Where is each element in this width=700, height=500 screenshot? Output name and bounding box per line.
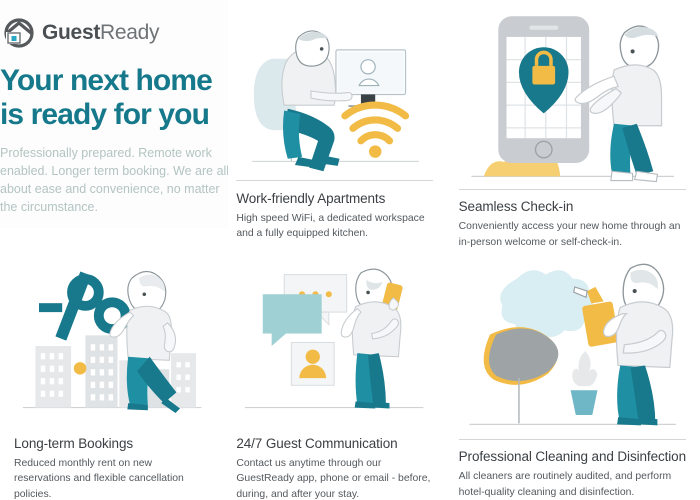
percent-discount-city-illustration [14,258,210,426]
phone-map-pin-lock-illustration [459,8,686,189]
card-body: High speed WiFi, a dedicated workspace a… [236,211,432,242]
person-at-desk-wifi-illustration [236,8,432,180]
feature-card-guest-communication[interactable]: 24/7 Guest Communication Contact us anyt… [230,250,438,500]
card-title: 24/7 Guest Communication [236,436,432,451]
card-body: Contact us anytime through our GuestRead… [236,456,432,500]
feature-card-seamless-checkin[interactable]: Seamless Check-in Conveniently access yo… [453,0,692,250]
brand-wordmark: GuestReady [42,21,159,45]
hero-panel: GuestReady Your next home is ready for y… [0,0,228,228]
card-body: Conveniently access your new home throug… [459,219,686,250]
spray-bottle-cleaning-illustration [459,258,686,439]
guestready-house-logo-icon [4,18,34,48]
card-title: Work-friendly Apartments [236,191,432,206]
card-title: Seamless Check-in [459,199,686,214]
card-title: Professional Cleaning and Disinfection [459,449,686,464]
brand-logo[interactable]: GuestReady [4,18,228,48]
feature-card-long-term[interactable]: Long-term Bookings Reduced monthly rent … [8,250,216,500]
brand-name-light: Ready [100,21,159,44]
hero-title-line1: Your next home [0,64,228,98]
marketing-page: Work-friendly Apartments High speed WiFi… [0,0,700,500]
hero-title: Your next home is ready for you [0,64,228,132]
card-body: All cleaners are routinely audited, and … [459,469,686,500]
hero-title-line2: is ready for you [0,98,228,132]
card-title: Long-term Bookings [14,436,210,451]
feature-card-work-friendly[interactable]: Work-friendly Apartments High speed WiFi… [230,0,438,250]
brand-name-bold: Guest [42,21,100,44]
hero-subtitle: Professionally prepared. Remote work ena… [0,144,228,217]
card-divider [236,180,432,181]
card-body: Reduced monthly rent on new reservations… [14,456,210,500]
feature-card-cleaning[interactable]: Professional Cleaning and Disinfection A… [453,250,692,500]
chat-bubbles-person-phone-illustration [236,258,432,426]
